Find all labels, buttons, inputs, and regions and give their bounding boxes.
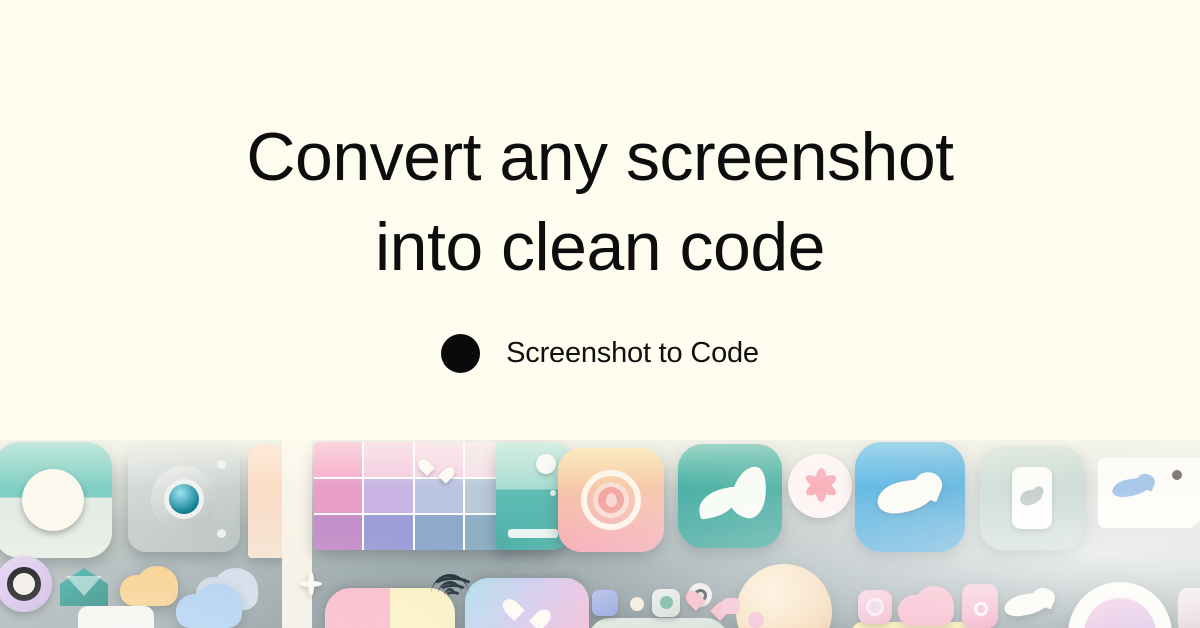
- pin-icon: [606, 493, 617, 507]
- swatch: [415, 479, 463, 514]
- swatch: [415, 515, 463, 550]
- wifi-icon: [430, 574, 470, 600]
- small-bead-rose: [748, 612, 764, 628]
- flower-icon: [804, 468, 838, 502]
- cloud-icon: [120, 566, 178, 606]
- swatch: [364, 515, 412, 550]
- leaf-icon-right: [728, 463, 771, 520]
- gradient-tile-heart-icon: [514, 600, 544, 626]
- pin-ring-outer-icon: [581, 470, 641, 530]
- camera-tile: [128, 446, 240, 552]
- camera-lens-icon: [151, 466, 217, 532]
- location-pin-tile: [558, 448, 664, 552]
- rounded-app-tile: [0, 442, 112, 558]
- device-bird-icon: [1020, 486, 1044, 511]
- small-tile-blue: [592, 590, 618, 616]
- cloud-icon-blue: [176, 584, 242, 628]
- swatch: [314, 442, 362, 477]
- brand-row: Screenshot to Code: [441, 334, 759, 373]
- bead-heart-icon: [696, 592, 724, 616]
- swatch: [364, 479, 412, 514]
- swatch: [314, 515, 362, 550]
- cloud-icon-pink: [898, 586, 954, 626]
- cream-strip: [282, 440, 312, 628]
- small-bead-pink: [722, 598, 740, 614]
- twitter-bird-icon: [877, 472, 943, 523]
- white-card: [78, 606, 154, 628]
- swatch: [364, 442, 412, 477]
- hero-section: Convert any screenshot into clean code S…: [0, 0, 1200, 443]
- device-card-icon: [1012, 467, 1052, 529]
- small-bead-cream: [630, 597, 644, 611]
- tile-circle-icon: [22, 469, 84, 531]
- og-preview-card: Convert any screenshot into clean code S…: [0, 0, 1200, 628]
- bird-card-bird-icon: [1112, 474, 1156, 502]
- twitter-tile: [855, 442, 965, 552]
- brand-name: Screenshot to Code: [506, 339, 759, 368]
- white-bird-icon: [1004, 588, 1056, 622]
- panel-dot-icon: [536, 454, 556, 474]
- ring-icon: [0, 556, 52, 612]
- swatch: [314, 479, 362, 514]
- sage-card: [588, 618, 728, 628]
- decorative-icon-strip: [0, 440, 1200, 628]
- brand-logo-icon: [441, 334, 480, 373]
- sparkle-icon: [300, 572, 322, 596]
- headline-line-2: into clean code: [246, 202, 953, 292]
- page-title: Convert any screenshot into clean code: [246, 112, 953, 292]
- heart-icon: [427, 460, 449, 480]
- bird-card-dot-icon: [1172, 470, 1182, 480]
- capsule-tile: [1178, 588, 1200, 628]
- headline-line-1: Convert any screenshot: [246, 112, 953, 202]
- device-tile: [980, 446, 1084, 550]
- peach-strip: [248, 444, 284, 558]
- leaf-tile: [678, 444, 782, 548]
